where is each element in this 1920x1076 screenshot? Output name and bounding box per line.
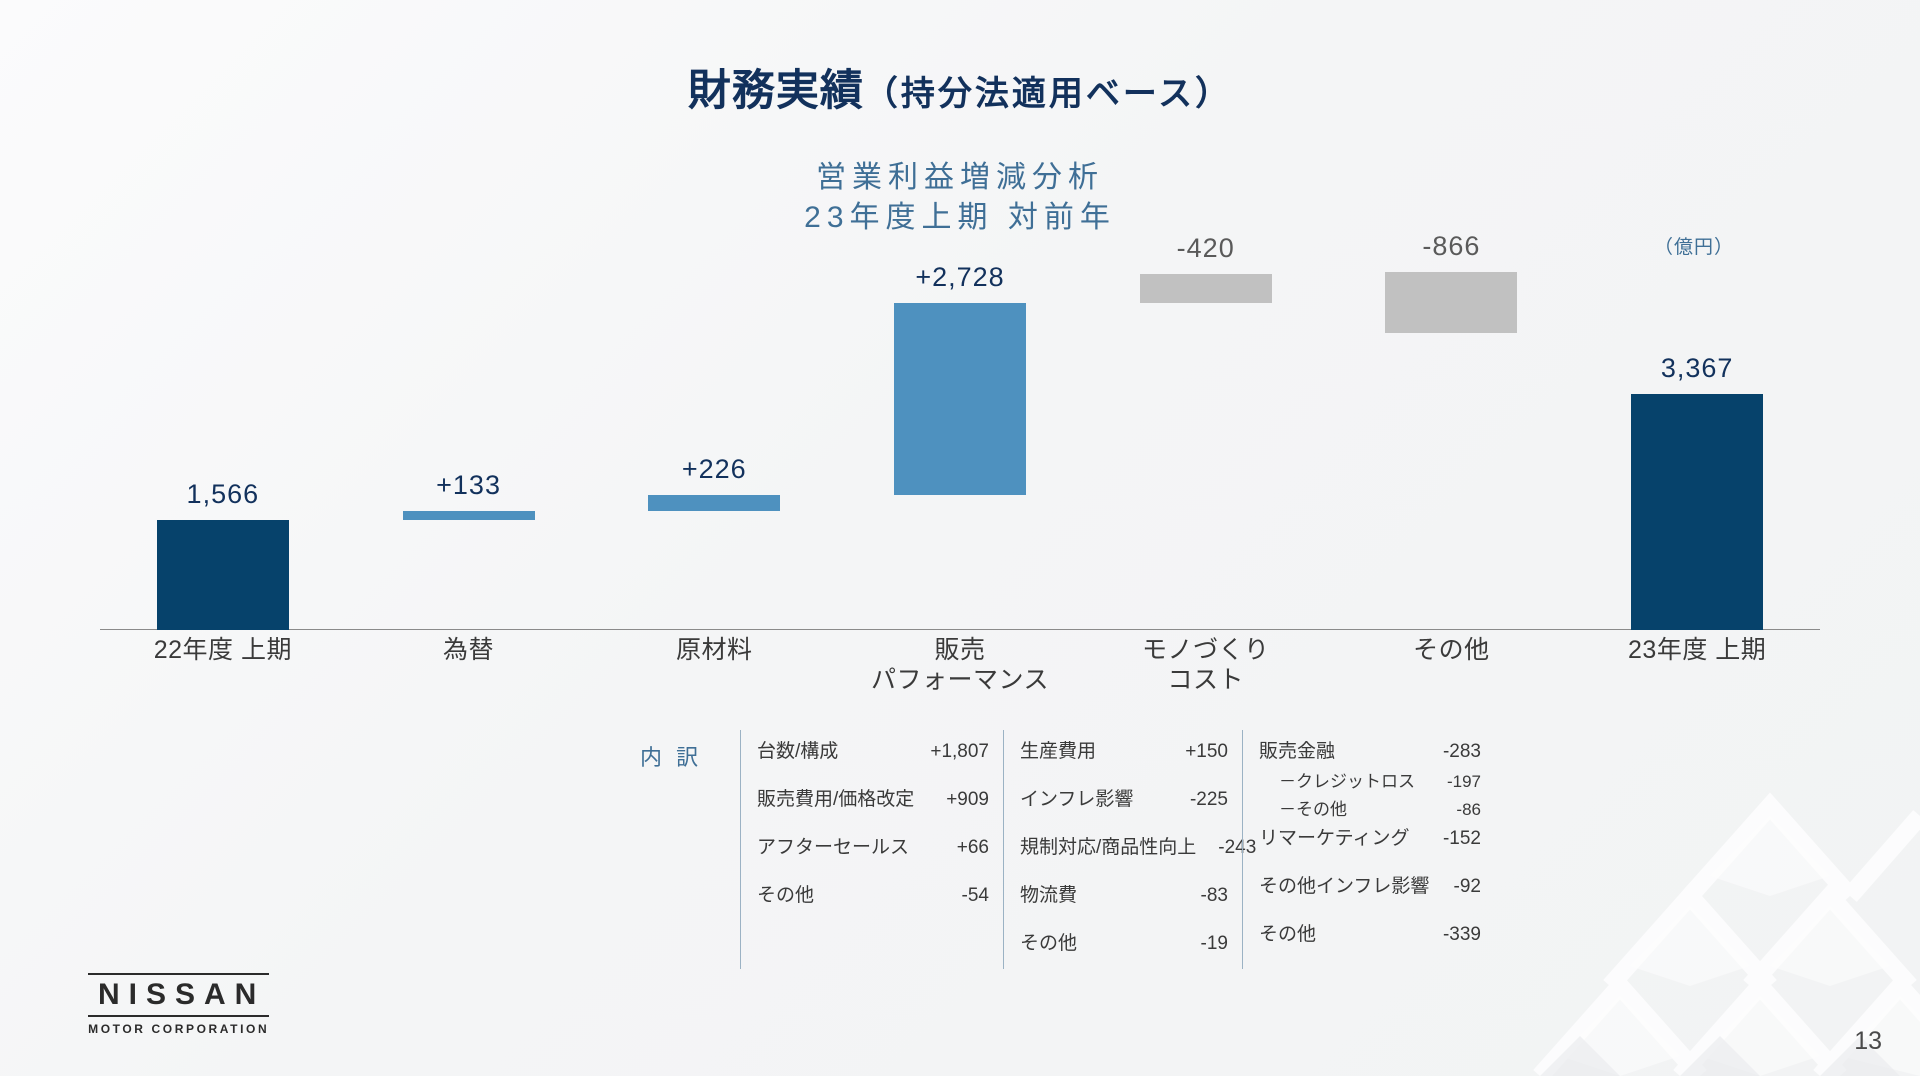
subtitle-line-2: 23年度上期 対前年 <box>0 198 1920 238</box>
breakdown-item-name: 台数/構成 <box>757 736 860 763</box>
logo-tagline: MOTOR CORPORATION <box>88 1022 269 1036</box>
breakdown-row: －クレジットロス-197 <box>1259 767 1481 792</box>
category-label-line1-1: 為替 <box>443 635 494 665</box>
breakdown-item-name: リマーケティング <box>1259 823 1431 850</box>
breakdown-item-value: -54 <box>962 885 989 907</box>
chart-column-4: -420モノづくりコスト <box>1140 300 1272 630</box>
breakdown-item-value: -152 <box>1443 828 1481 850</box>
chart-column-6: 3,36723年度 上期 <box>1631 300 1763 630</box>
breakdown-row: 生産費用+150 <box>1020 736 1228 763</box>
category-label-0: 22年度 上期 <box>154 635 292 665</box>
category-label-line1-2: 原材料 <box>676 635 753 665</box>
bar-value-label-5: -866 <box>1422 231 1480 262</box>
bar-value-label-3: +2,728 <box>915 262 1004 293</box>
bar-value-label-6: 3,367 <box>1661 353 1734 384</box>
breakdown-row: 台数/構成+1,807 <box>757 736 989 763</box>
bar-value-label-4: -420 <box>1177 233 1235 264</box>
category-label-line1-4: モノづくり <box>1142 635 1270 665</box>
breakdown-row: インフレ影響-225 <box>1020 784 1228 811</box>
category-label-line1-6: 23年度 上期 <box>1628 635 1766 665</box>
breakdown-item-value: -86 <box>1456 800 1481 820</box>
breakdown-row: －その他-86 <box>1259 795 1481 820</box>
breakdown-item-value: -19 <box>1201 933 1228 955</box>
bar-2 <box>648 495 780 511</box>
breakdown-section: 内 訳 台数/構成+1,807販売費用/価格改定+909アフターセールス+66そ… <box>740 730 1495 969</box>
breakdown-row: 物流費-83 <box>1020 880 1228 907</box>
breakdown-row: 販売金融-283 <box>1259 736 1481 763</box>
category-label-2: 原材料 <box>676 635 753 665</box>
breakdown-item-name: その他インフレ影響 <box>1259 871 1451 898</box>
bar-0 <box>157 520 289 630</box>
breakdown-row: その他インフレ影響-92 <box>1259 871 1481 898</box>
page-subtitle: 営業利益増減分析 23年度上期 対前年 <box>0 158 1920 238</box>
subtitle-line-1: 営業利益増減分析 <box>0 158 1920 198</box>
unit-label: （億円） <box>1654 232 1734 259</box>
breakdown-row: その他-339 <box>1259 919 1481 946</box>
breakdown-item-name: －その他 <box>1259 795 1369 820</box>
nissan-logo: NISSAN MOTOR CORPORATION <box>88 973 269 1036</box>
breakdown-item-value: -339 <box>1443 924 1481 946</box>
breakdown-item-name: 販売費用/価格改定 <box>757 784 936 811</box>
chart-column-5: -866その他 <box>1385 300 1517 630</box>
waterfall-chart: 1,56622年度 上期+133為替+226原材料+2,728販売パフォーマンス… <box>100 300 1820 630</box>
slide: 財務実績（持分法適用ベース） 営業利益増減分析 23年度上期 対前年 （億円） … <box>0 0 1920 1076</box>
bar-value-label-1: +133 <box>436 470 501 501</box>
other-breakdown: 販売金融-283－クレジットロス-197－その他-86リマーケティング-152そ… <box>1242 730 1495 969</box>
breakdown-item-name: －クレジットロス <box>1259 767 1437 792</box>
bar-4 <box>1140 274 1272 303</box>
category-label-4: モノづくりコスト <box>1142 635 1270 695</box>
breakdown-item-name: 規制対応/商品性向上 <box>1020 832 1218 859</box>
breakdown-item-value: +150 <box>1185 741 1228 763</box>
bar-6 <box>1631 394 1763 630</box>
breakdown-item-value: -197 <box>1447 772 1481 792</box>
breakdown-item-name: 物流費 <box>1020 880 1099 907</box>
monozukuri-cost-breakdown: 生産費用+150インフレ影響-225規制対応/商品性向上-243物流費-83その… <box>1003 730 1242 969</box>
breakdown-row: 規制対応/商品性向上-243 <box>1020 832 1228 859</box>
category-label-3: 販売パフォーマンス <box>871 635 1049 695</box>
breakdown-row: その他-19 <box>1020 928 1228 955</box>
breakdown-row: 販売費用/価格改定+909 <box>757 784 989 811</box>
chart-column-1: +133為替 <box>403 300 535 630</box>
breakdown-item-value: +1,807 <box>930 741 989 763</box>
breakdown-item-name: その他 <box>1259 919 1338 946</box>
breakdown-item-value: -83 <box>1201 885 1228 907</box>
breakdown-label: 内 訳 <box>640 740 702 772</box>
page-title: 財務実績（持分法適用ベース） <box>0 56 1920 118</box>
page-title-main: 財務実績 <box>688 67 864 115</box>
breakdown-item-value: -283 <box>1443 741 1481 763</box>
breakdown-row: アフターセールス+66 <box>757 832 989 859</box>
category-label-5: その他 <box>1413 635 1490 665</box>
chart-column-3: +2,728販売パフォーマンス <box>894 300 1026 630</box>
breakdown-item-name: 販売金融 <box>1259 736 1357 763</box>
chart-column-2: +226原材料 <box>648 300 780 630</box>
bar-value-label-0: 1,566 <box>187 479 260 510</box>
breakdown-item-value: +909 <box>946 789 989 811</box>
logo-wordmark: NISSAN <box>88 973 269 1017</box>
breakdown-item-name: インフレ影響 <box>1020 784 1155 811</box>
breakdown-item-value: -92 <box>1454 876 1481 898</box>
bar-value-label-2: +226 <box>682 454 747 485</box>
sales-performance-breakdown: 台数/構成+1,807販売費用/価格改定+909アフターセールス+66その他-5… <box>740 730 1003 969</box>
breakdown-item-value: -225 <box>1190 789 1228 811</box>
breakdown-item-name: 生産費用 <box>1020 736 1118 763</box>
page-title-parenthetical: （持分法適用ベース） <box>864 75 1232 113</box>
breakdown-item-name: その他 <box>1020 928 1099 955</box>
page-number: 13 <box>1854 1027 1882 1056</box>
category-label-1: 為替 <box>443 635 494 665</box>
category-label-6: 23年度 上期 <box>1628 635 1766 665</box>
category-label-line1-0: 22年度 上期 <box>154 635 292 665</box>
chart-column-0: 1,56622年度 上期 <box>157 300 289 630</box>
breakdown-row: その他-54 <box>757 880 989 907</box>
breakdown-item-name: アフターセールス <box>757 832 931 859</box>
category-label-line1-3: 販売 <box>871 635 1049 665</box>
category-label-line2-3: パフォーマンス <box>871 665 1049 695</box>
category-label-line2-4: コスト <box>1142 665 1270 695</box>
bar-3 <box>894 303 1026 495</box>
bar-1 <box>403 511 535 520</box>
breakdown-item-value: +66 <box>957 837 989 859</box>
breakdown-item-name: その他 <box>757 880 836 907</box>
category-label-line1-5: その他 <box>1413 635 1490 665</box>
breakdown-row: リマーケティング-152 <box>1259 823 1481 850</box>
bar-5 <box>1385 272 1517 333</box>
